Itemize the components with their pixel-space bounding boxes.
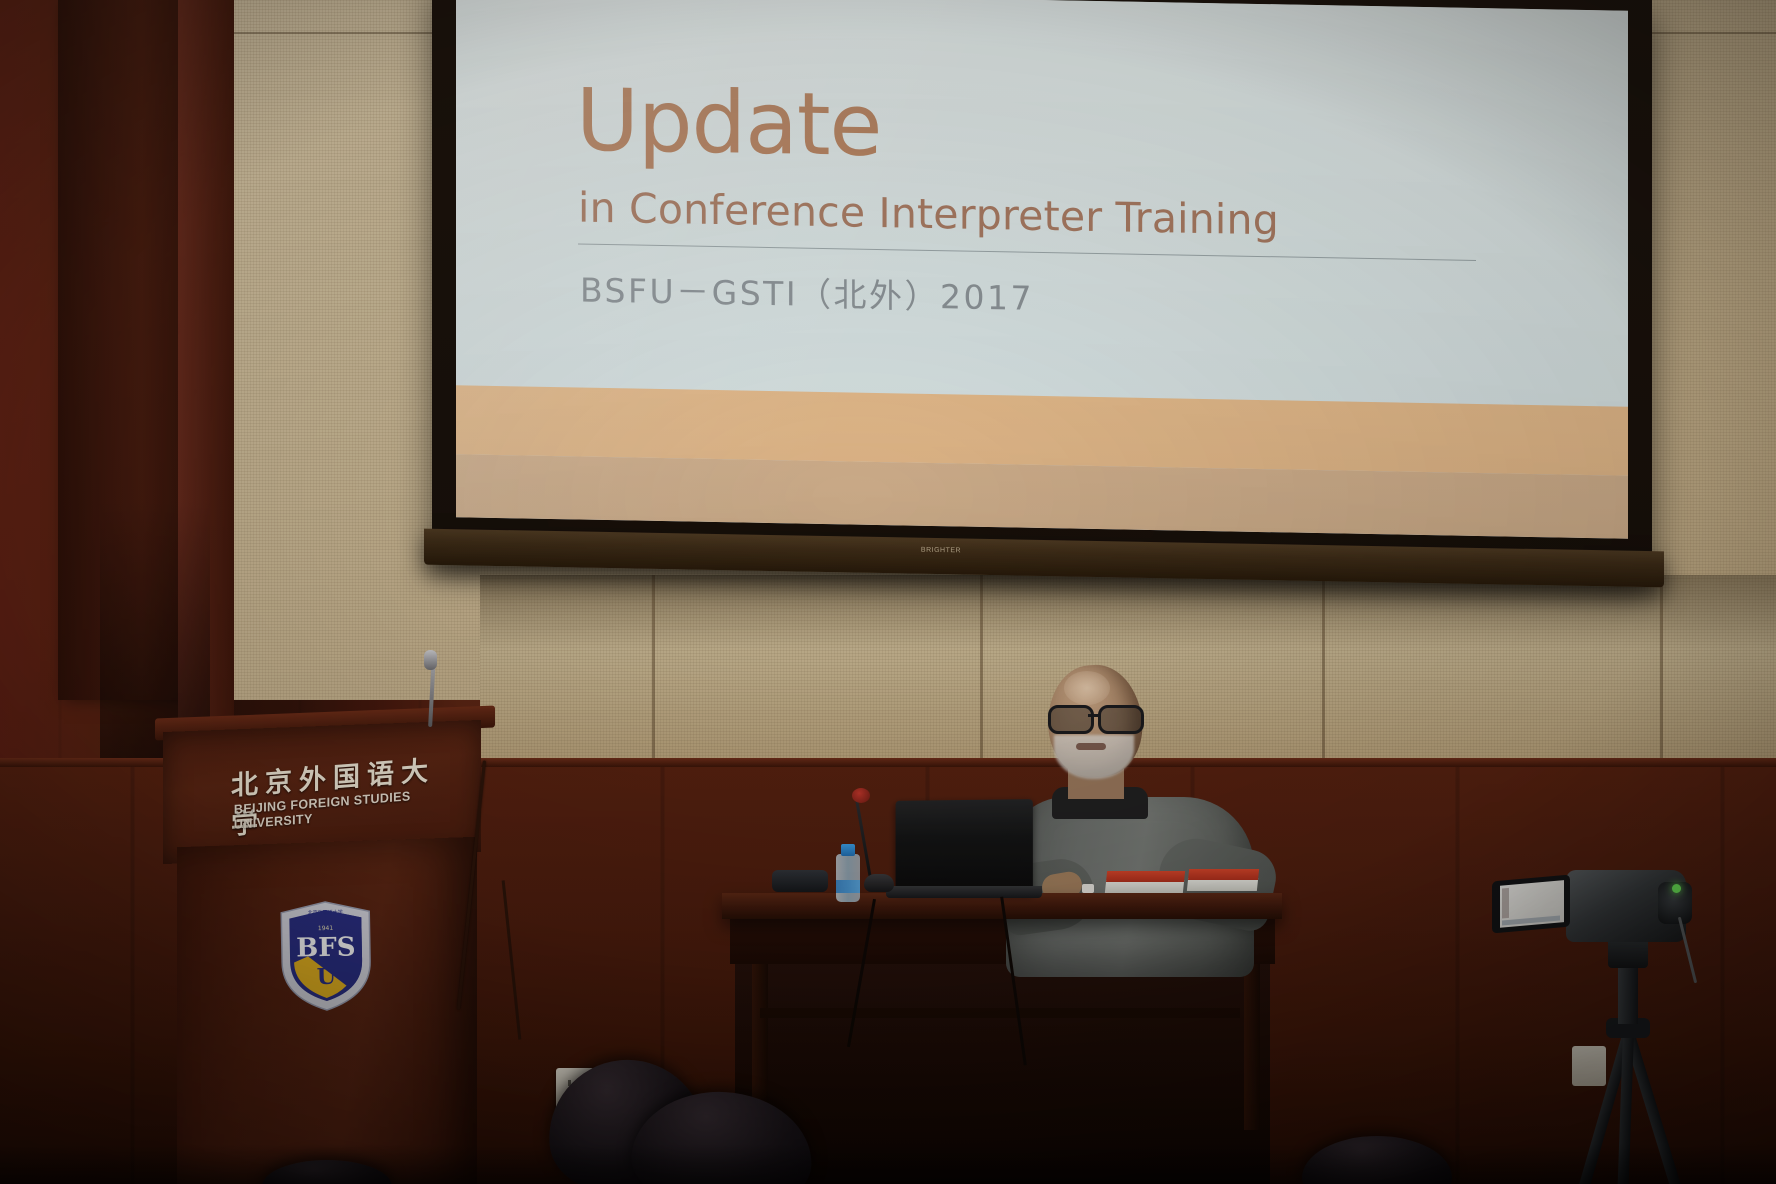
photo-vignette xyxy=(0,0,1776,1184)
lecture-hall-photo: Update in Conference Interpreter Trainin… xyxy=(0,0,1776,1184)
